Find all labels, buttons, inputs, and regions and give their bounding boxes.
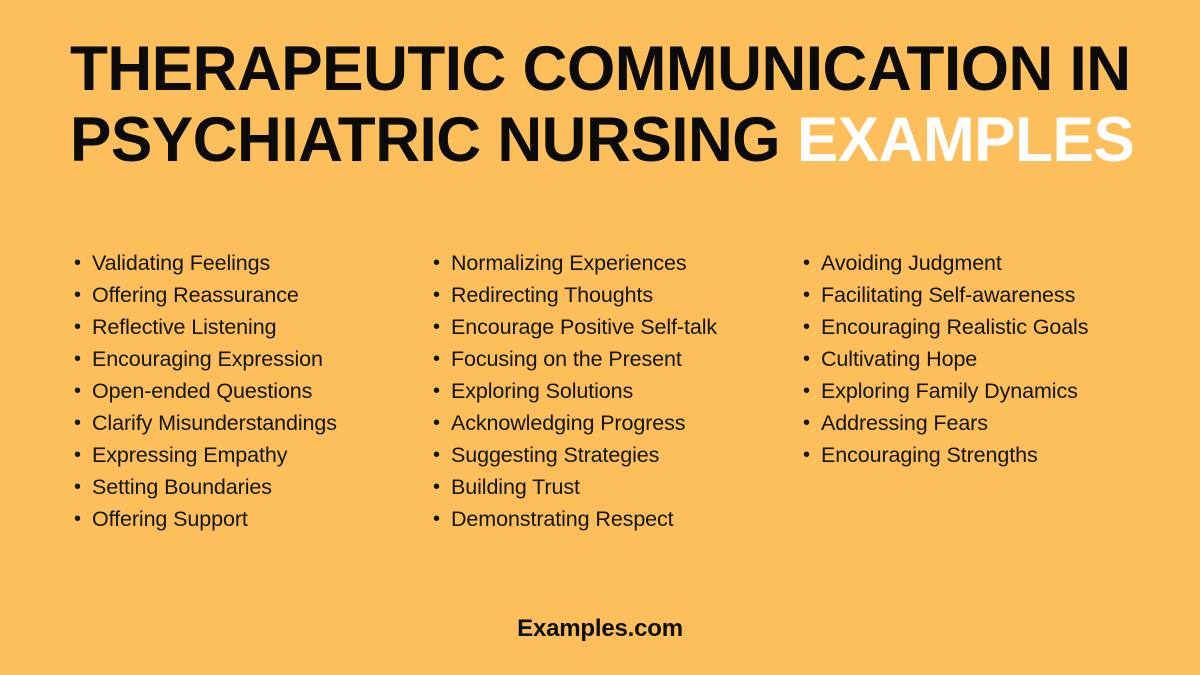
list-item: •Setting Boundaries [74,471,414,503]
list-item: •Offering Support [74,503,414,535]
list-item-label: Reflective Listening [92,311,414,343]
list-item: •Validating Feelings [74,247,414,279]
list-item-label: Clarify Misunderstandings [92,407,414,439]
list-item: •Encouraging Realistic Goals [803,311,1173,343]
bullet-icon: • [433,247,451,279]
list-item: •Encouraging Expression [74,343,414,375]
list-item-label: Validating Feelings [92,247,414,279]
list-item-label: Demonstrating Respect [451,503,793,535]
list-item: •Reflective Listening [74,311,414,343]
bullet-icon: • [803,375,821,407]
footer: Examples.com [0,614,1200,644]
bullet-icon: • [74,407,92,439]
list-item: •Addressing Fears [803,407,1173,439]
bullet-icon: • [433,311,451,343]
list-item-label: Acknowledging Progress [451,407,793,439]
bullet-icon: • [803,343,821,375]
page-title-line-2-main: PSYCHIATRIC NURSING [70,105,780,175]
list-item-label: Building Trust [451,471,793,503]
list-item: •Facilitating Self-awareness [803,279,1173,311]
list-item-label: Encourage Positive Self-talk [451,311,793,343]
poster-canvas: THERAPEUTIC COMMUNICATION IN PSYCHIATRIC… [0,0,1200,675]
list-item-label: Encouraging Realistic Goals [821,311,1173,343]
list-item: •Normalizing Experiences [433,247,793,279]
bullet-icon: • [433,375,451,407]
list-item: •Expressing Empathy [74,439,414,471]
list-item-label: Facilitating Self-awareness [821,279,1173,311]
list-item: •Encouraging Strengths [803,439,1173,471]
list-item: •Exploring Solutions [433,375,793,407]
list-item: •Encourage Positive Self-talk [433,311,793,343]
bullet-icon: • [74,375,92,407]
list-item: •Acknowledging Progress [433,407,793,439]
list-item: •Cultivating Hope [803,343,1173,375]
list-item-label: Offering Support [92,503,414,535]
list-item-label: Focusing on the Present [451,343,793,375]
bullet-icon: • [803,311,821,343]
bullet-icon: • [433,439,451,471]
bullet-icon: • [803,279,821,311]
list-item-label: Encouraging Expression [92,343,414,375]
list-item-label: Setting Boundaries [92,471,414,503]
page-title-line-1: THERAPEUTIC COMMUNICATION IN [70,34,1114,105]
bullet-icon: • [433,471,451,503]
list-item: •Exploring Family Dynamics [803,375,1173,407]
list-item-label: Exploring Family Dynamics [821,375,1173,407]
bullet-icon: • [74,343,92,375]
footer-brand: Examples.com [517,615,683,642]
examples-column-2: •Normalizing Experiences•Redirecting Tho… [433,247,793,535]
bullet-icon: • [74,311,92,343]
examples-columns: •Validating Feelings•Offering Reassuranc… [0,247,1200,547]
bullet-icon: • [74,247,92,279]
list-item: •Focusing on the Present [433,343,793,375]
list-item-label: Suggesting Strategies [451,439,793,471]
examples-column-1: •Validating Feelings•Offering Reassuranc… [74,247,414,535]
bullet-icon: • [433,279,451,311]
list-item: •Redirecting Thoughts [433,279,793,311]
list-item-label: Normalizing Experiences [451,247,793,279]
list-item-label: Exploring Solutions [451,375,793,407]
list-item-label: Cultivating Hope [821,343,1173,375]
bullet-icon: • [803,247,821,279]
page-title-line-2: PSYCHIATRIC NURSING EXAMPLES [70,105,1114,176]
bullet-icon: • [803,439,821,471]
bullet-icon: • [74,471,92,503]
list-item-label: Avoiding Judgment [821,247,1173,279]
bullet-icon: • [803,407,821,439]
list-item-label: Encouraging Strengths [821,439,1173,471]
page-title-accent-word: EXAMPLES [797,105,1134,175]
bullet-icon: • [433,343,451,375]
bullet-icon: • [74,503,92,535]
bullet-icon: • [74,279,92,311]
list-item: •Offering Reassurance [74,279,414,311]
list-item-label: Addressing Fears [821,407,1173,439]
bullet-icon: • [433,503,451,535]
bullet-icon: • [433,407,451,439]
list-item: •Open-ended Questions [74,375,414,407]
list-item: •Demonstrating Respect [433,503,793,535]
list-item: •Building Trust [433,471,793,503]
list-item: •Avoiding Judgment [803,247,1173,279]
page-title: THERAPEUTIC COMMUNICATION IN PSYCHIATRIC… [70,34,1130,176]
bullet-icon: • [74,439,92,471]
list-item: •Clarify Misunderstandings [74,407,414,439]
list-item-label: Offering Reassurance [92,279,414,311]
list-item: •Suggesting Strategies [433,439,793,471]
list-item-label: Redirecting Thoughts [451,279,793,311]
examples-column-3: •Avoiding Judgment•Facilitating Self-awa… [803,247,1173,471]
list-item-label: Open-ended Questions [92,375,414,407]
list-item-label: Expressing Empathy [92,439,414,471]
